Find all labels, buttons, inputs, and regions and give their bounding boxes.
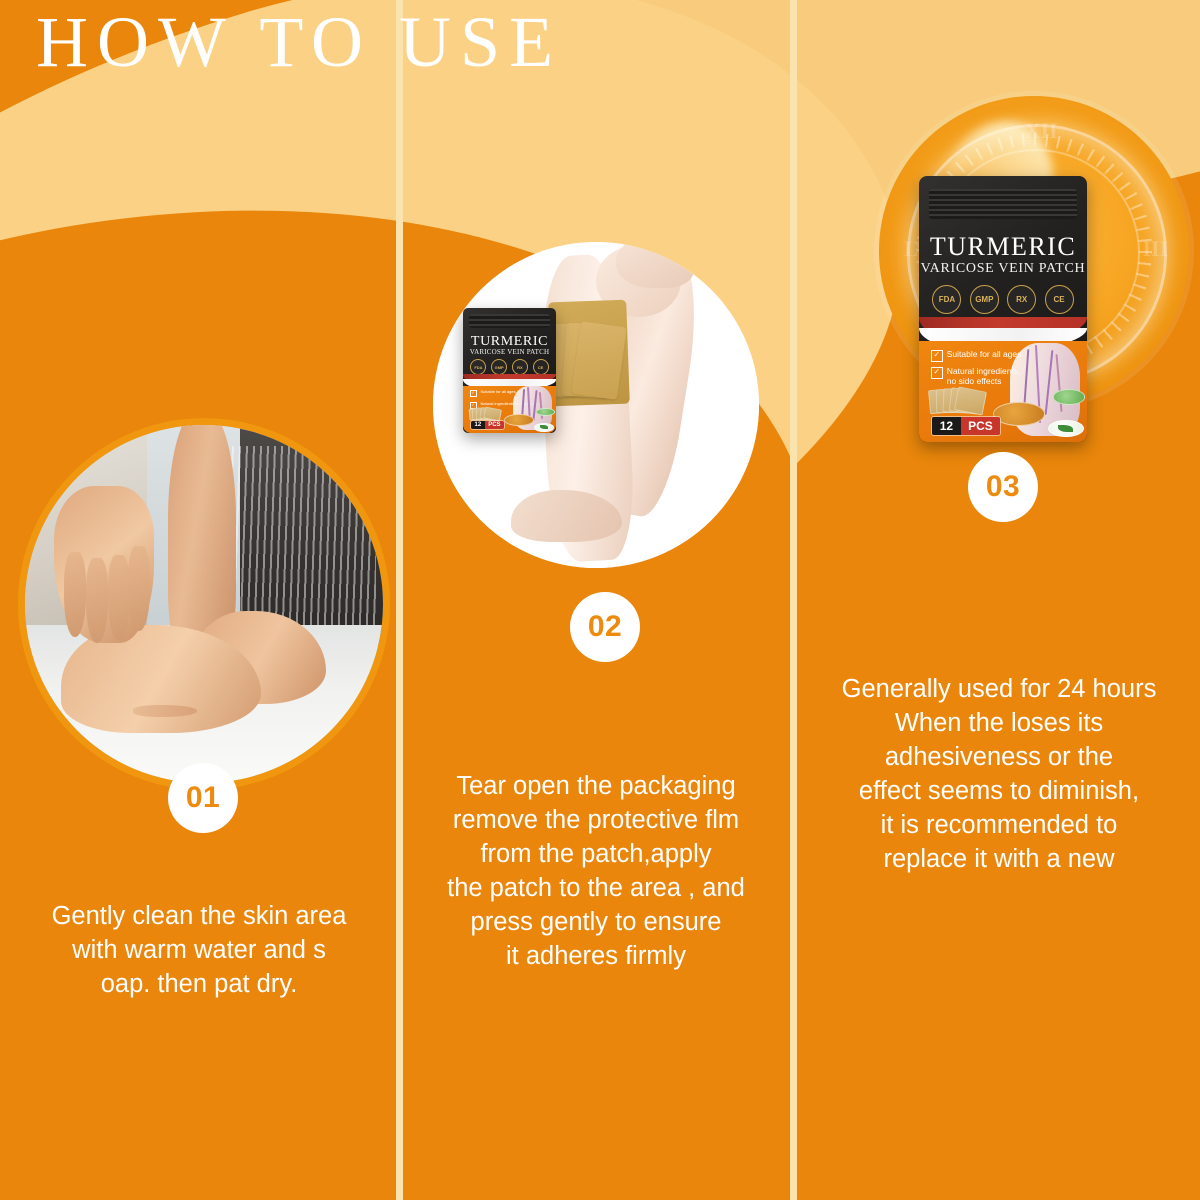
patch-stack-illustration [469, 408, 501, 420]
hand-on-knee [616, 242, 694, 288]
ce-badge-icon: CE [533, 359, 549, 375]
how-to-use-infographic: HOW TO USE [0, 0, 1200, 1200]
package-lower-panel: ✓ Suitable for all ages ✓ Natural ingred… [463, 386, 556, 434]
herb-icon [1053, 389, 1085, 404]
package-subtitle: VARICOSE VEIN PATCH [919, 261, 1087, 277]
package-count-badge: 12 PCS [470, 420, 505, 430]
package-count-number: 12 [471, 421, 486, 429]
column-divider-right [790, 0, 797, 1200]
product-package-large: TURMERIC VARICOSE VEIN PATCH FDA GMP RX … [919, 176, 1087, 442]
step-column-01 [0, 0, 396, 1200]
hand-washing-ankle [54, 486, 154, 644]
gmp-badge-icon: GMP [491, 359, 507, 375]
ce-badge-icon: CE [1045, 285, 1074, 314]
leaf-icon [534, 423, 555, 432]
leaf-icon [1048, 420, 1084, 437]
patch-stack-illustration [929, 389, 986, 415]
gmp-badge-icon: GMP [970, 285, 999, 314]
package-feature-item: ✓ Suitable for all ages [931, 350, 1022, 362]
legs-with-patch-photo: TURMERIC VARICOSE VEIN PATCH FDA GMP RX … [433, 242, 759, 568]
certification-badges: FDA GMP RX CE [932, 285, 1073, 314]
package-brand-name: TURMERIC [919, 232, 1087, 262]
package-count-badge: 12 PCS [931, 416, 1001, 436]
step-caption-03: Generally used for 24 hours When the los… [800, 673, 1198, 876]
feet-in-shower-photo [18, 418, 390, 790]
step-number-badge-03: 03 [968, 452, 1038, 522]
checkmark-icon: ✓ [931, 350, 943, 362]
product-package-small: TURMERIC VARICOSE VEIN PATCH FDA GMP RX … [463, 308, 556, 433]
package-zip-seal [469, 314, 551, 328]
package-count-label: PCS [485, 421, 503, 429]
step-number-badge-02: 02 [570, 592, 640, 662]
package-subtitle: VARICOSE VEIN PATCH [463, 348, 556, 356]
caduceus-badge-icon: RX [1007, 285, 1036, 314]
package-feature-text: Suitable for all ages [481, 390, 516, 394]
certification-badges: FDA GMP RX CE [470, 359, 548, 375]
package-zip-seal [929, 189, 1077, 218]
fda-badge-icon: FDA [932, 285, 961, 314]
clock-numeral-iii: III [1143, 236, 1169, 262]
package-count-label: PCS [961, 417, 1000, 435]
fda-badge-icon: FDA [470, 359, 486, 375]
page-title: HOW TO USE [36, 6, 562, 78]
clock-numeral-xii: XII [1025, 118, 1058, 144]
package-count-number: 12 [932, 417, 961, 435]
toes [133, 705, 197, 717]
step-caption-01: Gently clean the skin area with warm wat… [8, 900, 390, 1002]
package-feature-text: Suitable for all ages [947, 350, 1022, 360]
checkmark-icon: ✓ [931, 367, 943, 379]
step-column-03: XII III VI IX TURMERIC VARICOSE VEIN PAT… [797, 0, 1200, 1200]
package-feature-list: ✓ Suitable for all ages ✓ Natural ingred… [931, 350, 1022, 392]
package-feature-item: ✓ Natural ingredients, no sido effects [931, 367, 1022, 387]
checkmark-icon: ✓ [470, 390, 477, 397]
step-number-badge-01: 01 [168, 763, 238, 833]
step-caption-02: Tear open the packaging remove the prote… [404, 770, 788, 973]
column-divider-left [396, 0, 403, 1200]
caduceus-badge-icon: RX [512, 359, 528, 375]
package-lower-panel: ✓ Suitable for all ages ✓ Natural ingred… [919, 341, 1087, 442]
herb-icon [536, 408, 555, 416]
